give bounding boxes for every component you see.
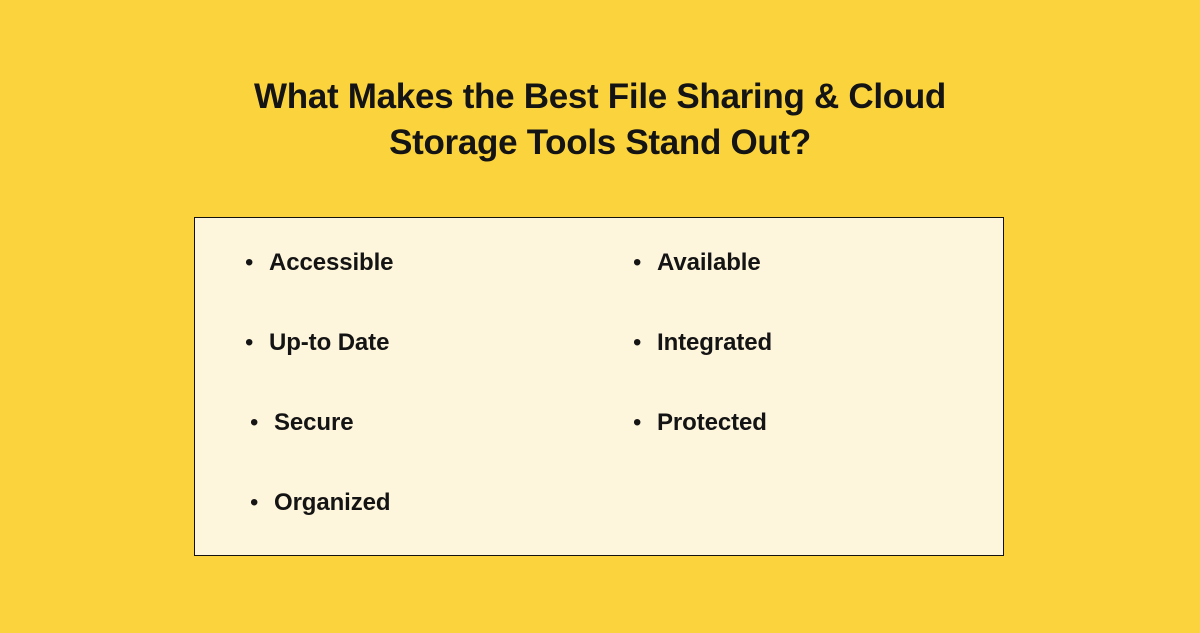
bullet-icon: • — [250, 488, 274, 518]
right-column-list: • Available • Integrated • Protected — [633, 248, 1003, 488]
list-item[interactable]: • Accessible — [245, 248, 599, 328]
list-item-label: Protected — [657, 408, 767, 438]
right-column: • Available • Integrated • Protected — [599, 218, 1003, 555]
list-item[interactable]: • Available — [633, 248, 1003, 328]
list-item[interactable]: • Organized — [245, 488, 599, 568]
list-item[interactable]: • Up-to Date — [245, 328, 599, 408]
features-columns: • Accessible • Up-to Date • Secure • Org… — [195, 218, 1003, 555]
list-item[interactable]: • Secure — [245, 408, 599, 488]
list-item-label: Integrated — [657, 328, 772, 358]
list-item-label: Up-to Date — [269, 328, 389, 358]
features-panel: • Accessible • Up-to Date • Secure • Org… — [194, 217, 1004, 556]
bullet-icon: • — [245, 328, 269, 358]
list-item-label: Available — [657, 248, 761, 278]
left-column: • Accessible • Up-to Date • Secure • Org… — [195, 218, 599, 555]
bullet-icon: • — [633, 248, 657, 278]
page-title: What Makes the Best File Sharing & Cloud… — [120, 74, 1080, 166]
bullet-icon: • — [250, 408, 274, 438]
slide-canvas: What Makes the Best File Sharing & Cloud… — [0, 0, 1200, 633]
left-column-list: • Accessible • Up-to Date • Secure • Org… — [245, 248, 599, 568]
list-item[interactable]: • Integrated — [633, 328, 1003, 408]
bullet-icon: • — [633, 408, 657, 438]
list-item-label: Secure — [274, 408, 353, 438]
list-item-label: Accessible — [269, 248, 393, 278]
list-item-label: Organized — [274, 488, 390, 518]
bullet-icon: • — [633, 328, 657, 358]
bullet-icon: • — [245, 248, 269, 278]
list-item[interactable]: • Protected — [633, 408, 1003, 488]
